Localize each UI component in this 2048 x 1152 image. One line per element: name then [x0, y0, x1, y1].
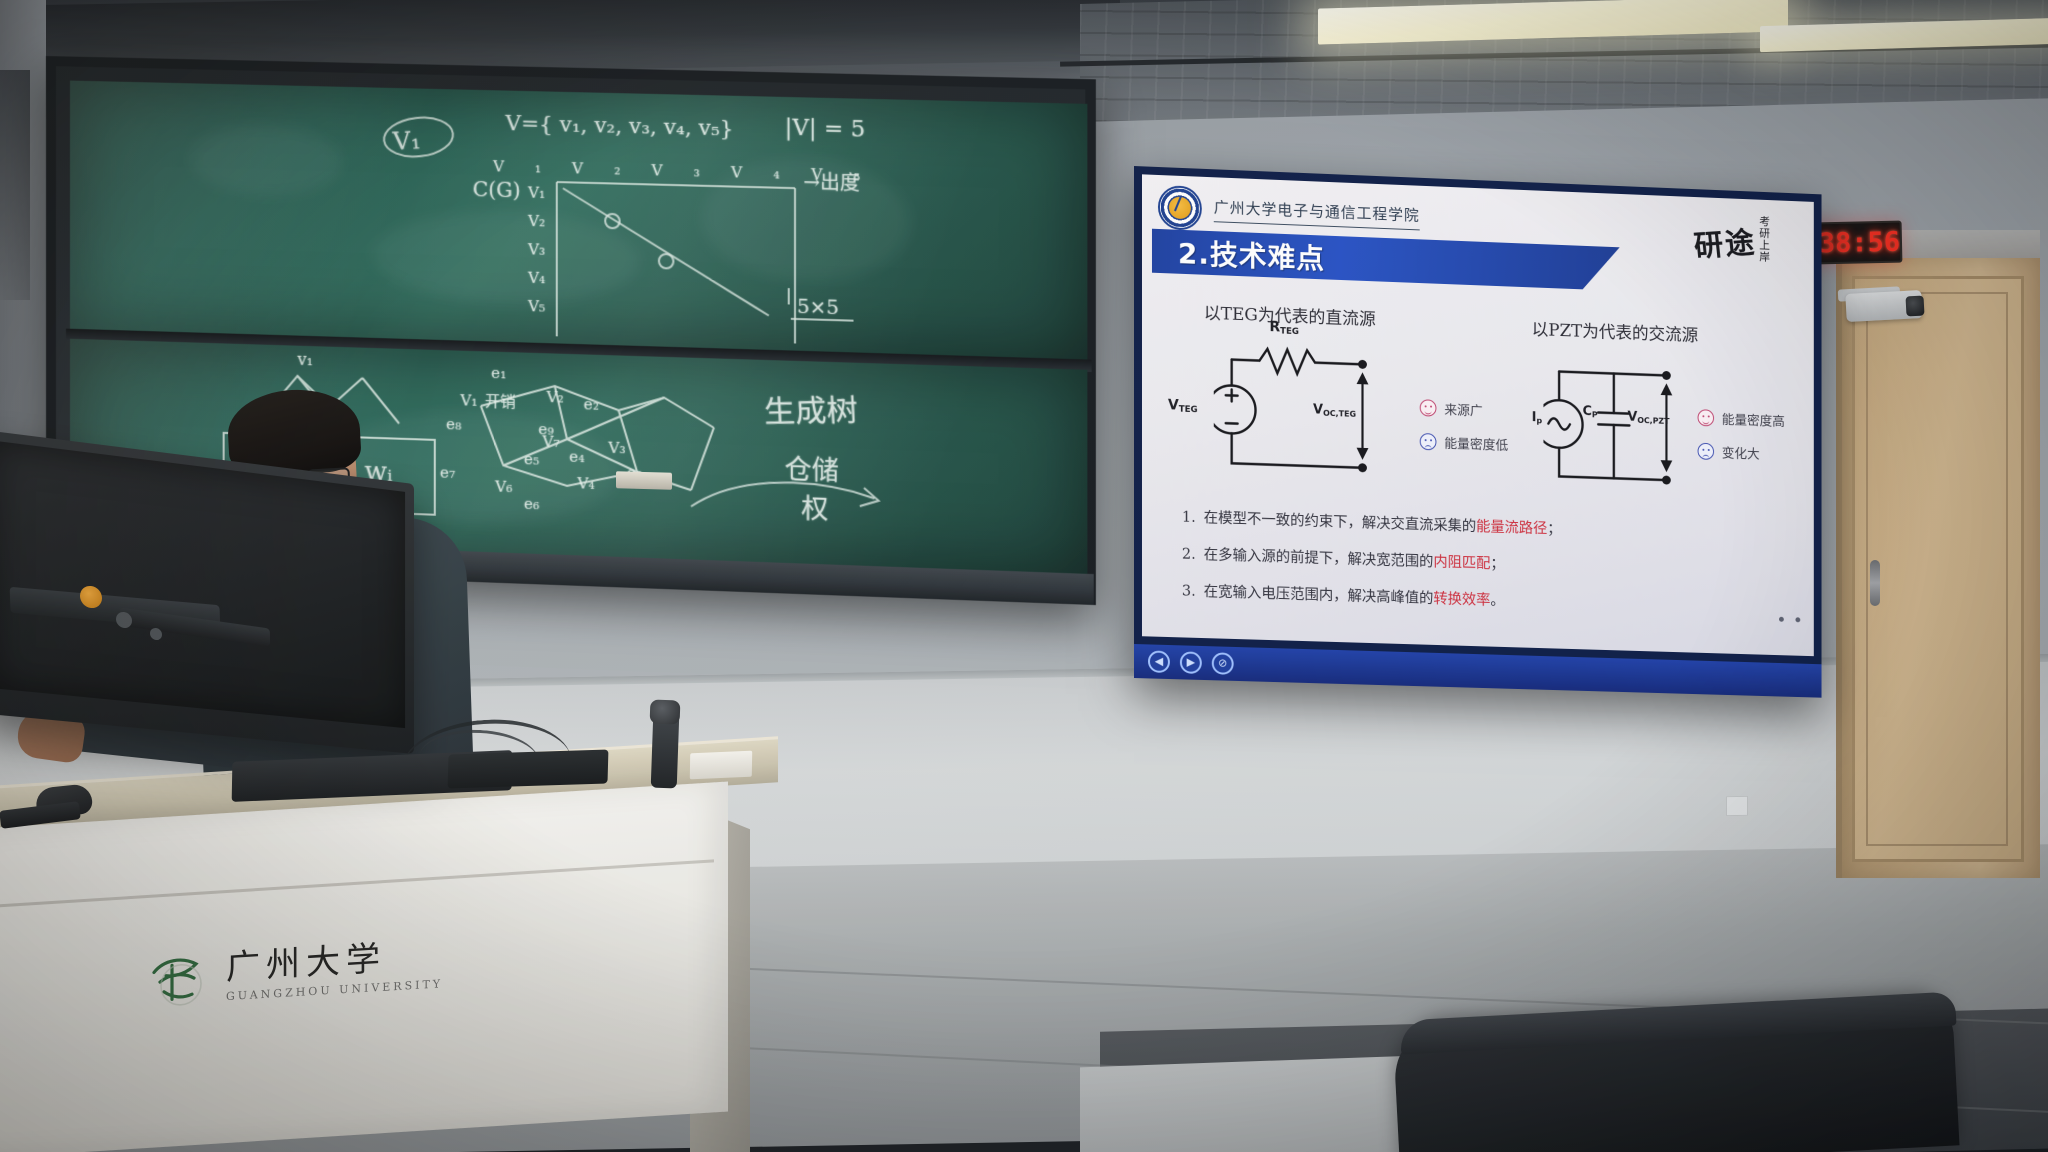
- bullet-tail: 。: [1490, 593, 1504, 609]
- bullet-tail: ；: [1547, 522, 1561, 538]
- bullet-text: 在模型不一致的约束下，解决交直流采集的: [1204, 510, 1476, 535]
- guangzhou-university-mark-icon: [148, 949, 210, 1011]
- slide-bullet-list: 1.在模型不一致的约束下，解决交直流采集的能量流路径； 2.在多输入源的前提下，…: [1182, 506, 1781, 635]
- note-label: 来源广: [1444, 399, 1482, 419]
- note-teg-negative: 能量密度低: [1420, 432, 1508, 454]
- bullet-highlight: 能量流路径: [1476, 519, 1547, 537]
- bullet-item: 3.在宽输入电压范围内，解决高峰值的转换效率。: [1182, 579, 1781, 618]
- monitor-arm-joint-secondary: [150, 627, 162, 640]
- presentation-slide: 广州大学电子与通信工程学院 2.技术难点 研途 考研上岸 以TEG为代表的直流源: [1142, 174, 1814, 656]
- control-panel[interactable]: [448, 749, 609, 788]
- note-label: 变化大: [1722, 443, 1760, 463]
- label-ip: Ip: [1532, 410, 1542, 425]
- lecture-hall-photo: 10:38:56 V₁ V={ v₁, v₂, v₃, v₄, v₅} |V| …: [0, 0, 2048, 1152]
- hw-spanning-tree-label: 生成树: [763, 385, 859, 432]
- hw-vertex-v4: V₄: [577, 474, 594, 493]
- university-emblem-icon: [1158, 185, 1202, 231]
- hw-vertex-set: V={ v₁, v₂, v₃, v₄, v₅}: [505, 111, 733, 141]
- note-teg-positive: 来源广: [1420, 398, 1483, 419]
- microphone-head[interactable]: [650, 699, 681, 724]
- hw-annot-open: 开销: [485, 390, 516, 412]
- previous-slide-icon[interactable]: ◀: [1148, 650, 1170, 673]
- blank-screen-icon[interactable]: ⊘: [1212, 652, 1234, 675]
- label-voc-pzt: VOC,PZT: [1627, 410, 1669, 426]
- note-label: 能量密度低: [1444, 433, 1508, 454]
- bullet-highlight: 内阻匹配: [1433, 555, 1490, 573]
- hw-matrix-size: 5×5: [797, 296, 839, 320]
- hw-vertex-v1: v₁: [297, 350, 313, 370]
- hw-edge-e2: e₂: [584, 395, 599, 414]
- camera-lens-icon: [1905, 296, 1924, 317]
- hw-vertex-v3: V₃: [608, 439, 625, 458]
- microphone-body[interactable]: [651, 714, 680, 789]
- wall-socket: [1726, 796, 1748, 816]
- blackboard-top-panel[interactable]: V₁ V={ v₁, v₂, v₃, v₄, v₅} |V| = 5 V₁V₂V…: [70, 81, 1087, 360]
- frowny-face-icon: [1698, 443, 1715, 460]
- next-slide-icon[interactable]: ▶: [1180, 651, 1202, 674]
- note-label: 能量密度高: [1722, 409, 1785, 430]
- label-cp: CP: [1583, 404, 1598, 419]
- hw-edge-e4: e₄: [569, 447, 584, 466]
- bullet-tail: ；: [1490, 556, 1504, 572]
- hw-cardinality: |V| = 5: [785, 115, 866, 142]
- hw-edge-e5: e₅: [524, 450, 539, 469]
- hw-ellipse-icon: [373, 110, 465, 173]
- logo-text-cn: 广州大学: [226, 938, 443, 985]
- door-inner-panel: [1866, 292, 2008, 846]
- hw-edge-e8: e₈: [446, 415, 461, 434]
- bullet-highlight: 转换效率: [1433, 591, 1490, 609]
- hw-edge-e7: e₇: [440, 463, 455, 482]
- bullet-number: 1.: [1182, 510, 1196, 526]
- hw-outdegree-note: →出度: [803, 167, 859, 196]
- monitor-screen[interactable]: [0, 440, 405, 728]
- blackboard-eraser[interactable]: [616, 471, 672, 490]
- wall-left-shadow: [0, 70, 30, 300]
- hw-vertex-v6: V₆: [495, 477, 512, 496]
- bullet-text: 在多输入源的前提下，解决宽范围的: [1204, 547, 1434, 570]
- note-pzt-negative: 变化大: [1698, 442, 1760, 463]
- label-r-teg: RTEG: [1269, 319, 1299, 336]
- bullet-number: 3.: [1182, 583, 1196, 599]
- hw-matrix-label: C(G): [473, 177, 521, 203]
- note-pzt-positive: 能量密度高: [1698, 408, 1785, 430]
- label-v-teg: VTEG: [1168, 397, 1198, 414]
- handwritten-watermark-vertical: 考研上岸: [1758, 215, 1770, 263]
- hw-vertex-v2: V₂: [546, 388, 563, 407]
- smiley-face-icon: [1420, 399, 1437, 416]
- hw-vertex-v1b: V₁: [460, 391, 477, 410]
- hw-vertex-v7: V₇: [542, 432, 559, 451]
- hw-edge-e6: e₆: [524, 495, 539, 514]
- hw-edge-e1: e₁: [491, 364, 506, 383]
- door-handle[interactable]: [1870, 560, 1880, 606]
- frowny-face-icon: [1420, 433, 1437, 450]
- podium-logo-text: 广州大学 GUANGZHOU UNIVERSITY: [226, 938, 443, 1003]
- bullet-item: 1.在模型不一致的约束下，解决交直流采集的能量流路径；: [1182, 506, 1781, 546]
- slide-corner-dots: [1779, 617, 1800, 623]
- hw-arrow-icon: [681, 459, 900, 548]
- university-name: 广州大学电子与通信工程学院: [1214, 196, 1420, 230]
- label-voc-teg: VOC,TEG: [1313, 402, 1356, 418]
- bullet-number: 2.: [1182, 547, 1196, 563]
- section-heading-pzt: 以PZT为代表的交流源: [1532, 315, 1698, 346]
- hw-matrix-row-labels: V₁V₂V₃V₄V₅: [528, 178, 545, 320]
- bullet-text: 在宽输入电压范围内，解决高峰值的: [1204, 584, 1434, 607]
- slide-title: 2.技术难点: [1178, 232, 1325, 278]
- smartboard-screen[interactable]: 广州大学电子与通信工程学院 2.技术难点 研途 考研上岸 以TEG为代表的直流源: [1134, 166, 1822, 698]
- paper-stack[interactable]: [690, 751, 752, 780]
- handwritten-watermark: 研途: [1692, 218, 1758, 265]
- smiley-face-icon: [1698, 409, 1715, 426]
- bullet-item: 2.在多输入源的前提下，解决宽范围的内阻匹配；: [1182, 543, 1781, 583]
